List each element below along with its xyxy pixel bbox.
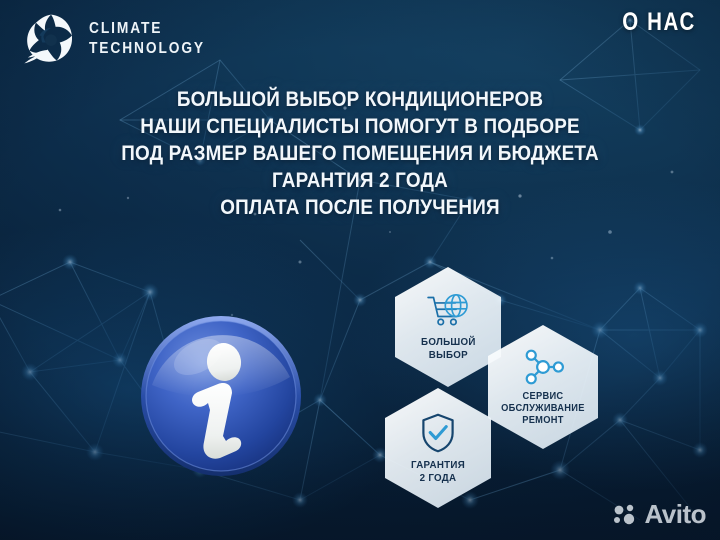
headline-block: БОЛЬШОЙ ВЫБОР КОНДИЦИОНЕРОВ НАШИ СПЕЦИАЛ… (0, 86, 720, 221)
feature-label-line1: БОЛЬШОЙ (421, 336, 476, 349)
headline-line-1: БОЛЬШОЙ ВЫБОР КОНДИЦИОНЕРОВ (36, 86, 684, 113)
feature-label-line3: РЕМОНТ (501, 415, 585, 427)
avito-watermark: Avito (613, 499, 706, 530)
poster-canvas: CLIMATE TECHNOLOGY О НАС БОЛЬШОЙ ВЫБОР К… (0, 0, 720, 540)
background-vignette (0, 0, 720, 540)
feature-label-line1: ГАРАНТИЯ (411, 459, 465, 472)
header: CLIMATE TECHNOLOGY О НАС (0, 0, 720, 72)
feature-label-line2: ВЫБОР (421, 349, 476, 362)
feature-label-line2: 2 ГОДА (411, 472, 465, 485)
feature-hex-choice-label: БОЛЬШОЙ ВЫБОР (421, 336, 476, 361)
headline-line-3: ПОД РАЗМЕР ВАШЕГО ПОМЕЩЕНИЯ И БЮДЖЕТА (36, 140, 684, 167)
info-circle-icon (140, 315, 302, 477)
headline-line-2: НАШИ СПЕЦИАЛИСТЫ ПОМОГУТ В ПОДБОРЕ (36, 113, 684, 140)
brand-name-line1: CLIMATE (89, 21, 205, 37)
page-title: О НАС (622, 8, 696, 37)
brand-logo[interactable]: CLIMATE TECHNOLOGY (22, 10, 224, 68)
avito-dots-icon (613, 504, 639, 526)
brand-name: CLIMATE TECHNOLOGY (89, 21, 224, 57)
headline-line-5: ОПЛАТА ПОСЛЕ ПОЛУЧЕНИЯ (36, 194, 684, 221)
shield-check-icon (419, 412, 457, 454)
headline-line-4: ГАРАНТИЯ 2 ГОДА (36, 167, 684, 194)
feature-hex-warranty-label: ГАРАНТИЯ 2 ГОДА (411, 459, 465, 484)
feature-hex-service-label: СЕРВИС ОБСЛУЖИВАНИЕ РЕМОНТ (501, 391, 585, 427)
brand-name-line2: TECHNOLOGY (89, 41, 205, 57)
shopping-cart-globe-icon (426, 293, 470, 331)
network-nodes-icon (522, 348, 564, 386)
fan-spiral-icon (22, 10, 80, 68)
feature-label-line1: СЕРВИС (501, 391, 585, 403)
avito-watermark-text: Avito (644, 499, 706, 530)
feature-label-line2: ОБСЛУЖИВАНИЕ (501, 403, 585, 415)
